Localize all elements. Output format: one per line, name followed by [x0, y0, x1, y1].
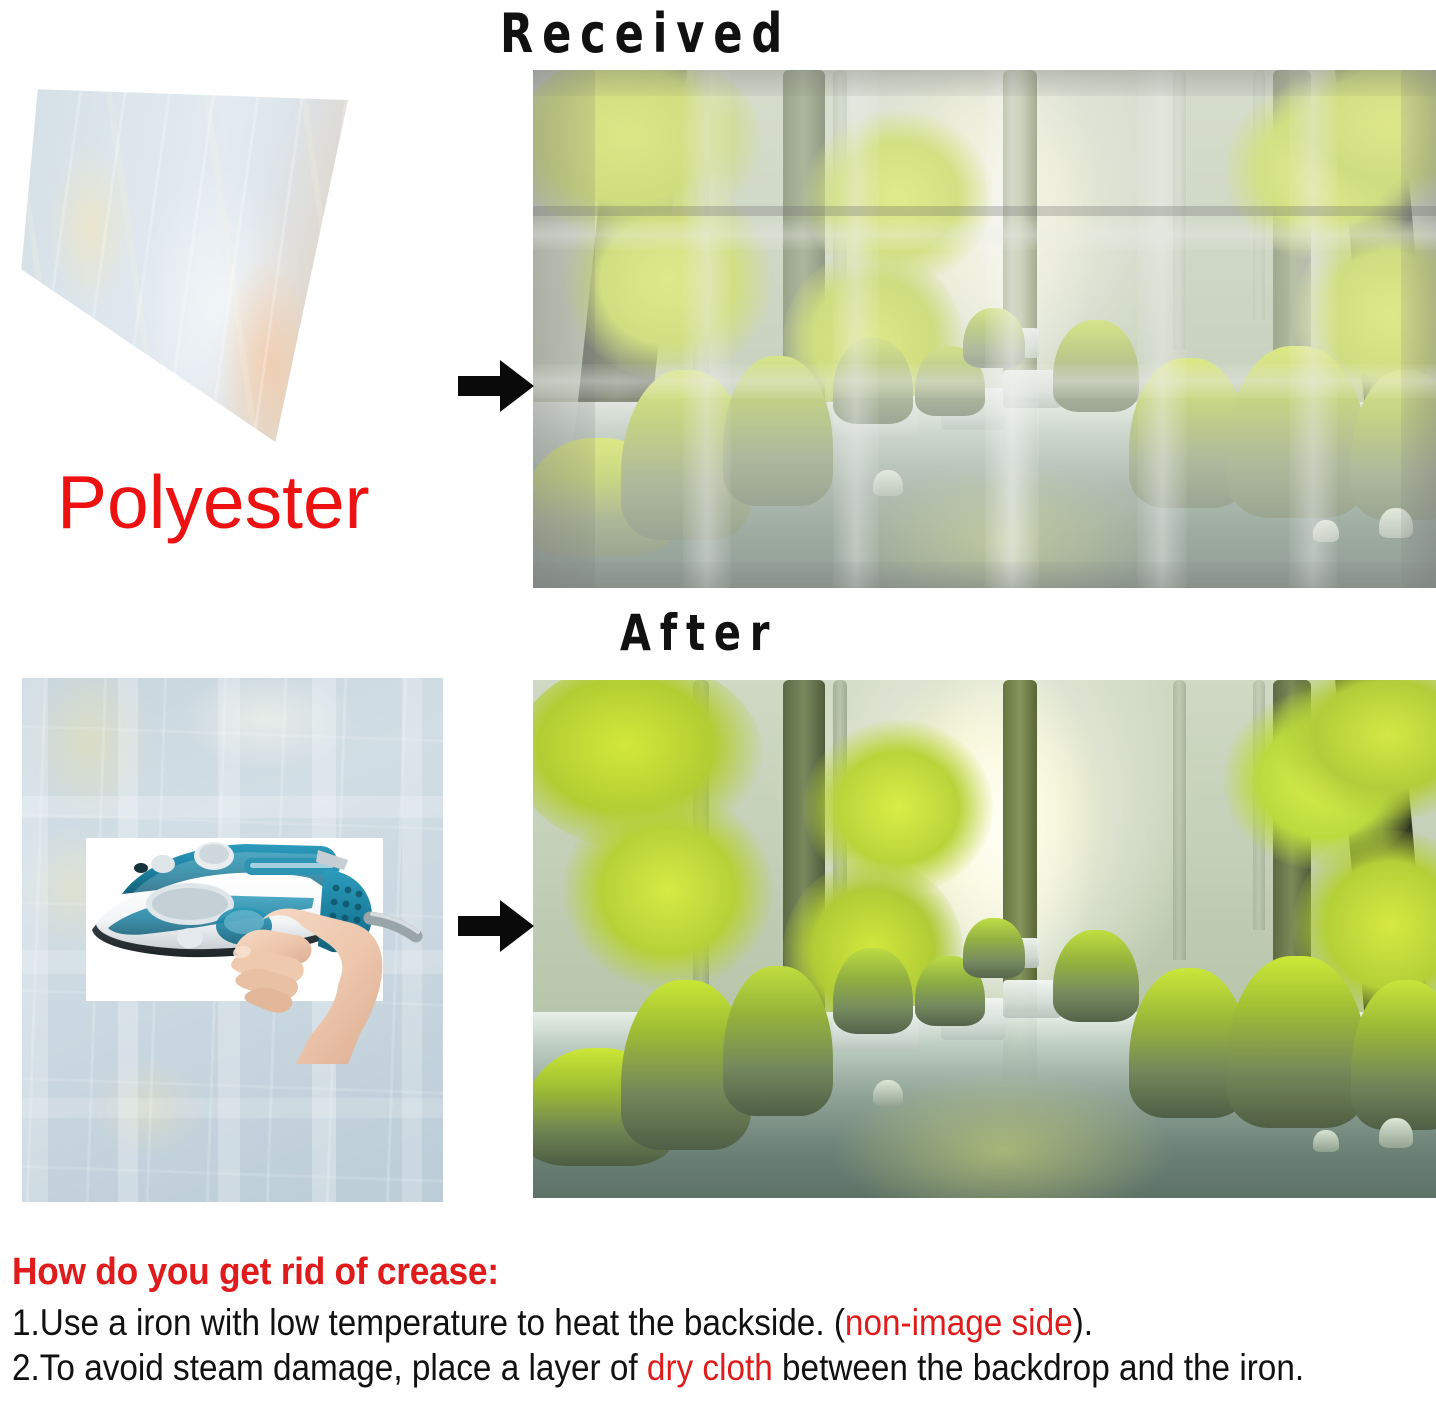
stream-rock — [873, 470, 903, 496]
steam-iron-icon — [86, 838, 383, 1001]
fold-line — [22, 678, 48, 1202]
polyester-material-label: Polyester — [57, 462, 370, 542]
instructions-title: How do you get rid of crease: — [12, 1250, 1336, 1294]
instruction-step: 2.To avoid steam damage, place a layer o… — [12, 1345, 1294, 1390]
instruction-step: 1.Use a iron with low temperature to hea… — [12, 1300, 1294, 1345]
infographic-canvas: Received Polyester — [0, 0, 1436, 1402]
fold-line — [22, 1098, 443, 1118]
arrow-right-icon — [458, 896, 534, 956]
tree-trunk — [1173, 70, 1186, 350]
step-highlight-text: non-image side — [845, 1302, 1073, 1343]
after-backdrop-image — [533, 680, 1436, 1198]
step-tail-text: ). — [1073, 1302, 1093, 1343]
stream-rock — [1313, 1130, 1339, 1152]
folded-fabric-texture — [18, 82, 348, 442]
step-number: 2. — [12, 1347, 40, 1388]
step-highlight-text: dry cloth — [647, 1347, 773, 1388]
received-heading: Received — [500, 2, 791, 65]
foliage-cluster — [563, 790, 773, 990]
arrow-right-icon — [458, 356, 534, 416]
iron-photo-card — [86, 838, 383, 1001]
stream-rock — [1379, 508, 1413, 538]
step-number: 1. — [12, 1302, 40, 1343]
instructions-block: How do you get rid of crease: 1.Use a ir… — [12, 1250, 1436, 1390]
step-lead-text: Use a iron with low temperature to heat … — [40, 1302, 845, 1343]
mossy-rock — [963, 308, 1025, 368]
folded-fabric-image — [18, 82, 438, 502]
stream-rock — [873, 1080, 903, 1106]
after-heading: After — [620, 604, 778, 662]
step-tail-text: between the backdrop and the iron. — [773, 1347, 1304, 1388]
stream-rock — [1313, 520, 1339, 542]
stream-rock — [1379, 1118, 1413, 1148]
fold-line — [22, 796, 443, 818]
received-backdrop-image — [533, 70, 1436, 588]
foliage-cluster — [563, 180, 773, 380]
tree-trunk — [1173, 680, 1186, 960]
step-lead-text: To avoid steam damage, place a layer of — [40, 1347, 647, 1388]
mossy-rock — [963, 918, 1025, 978]
